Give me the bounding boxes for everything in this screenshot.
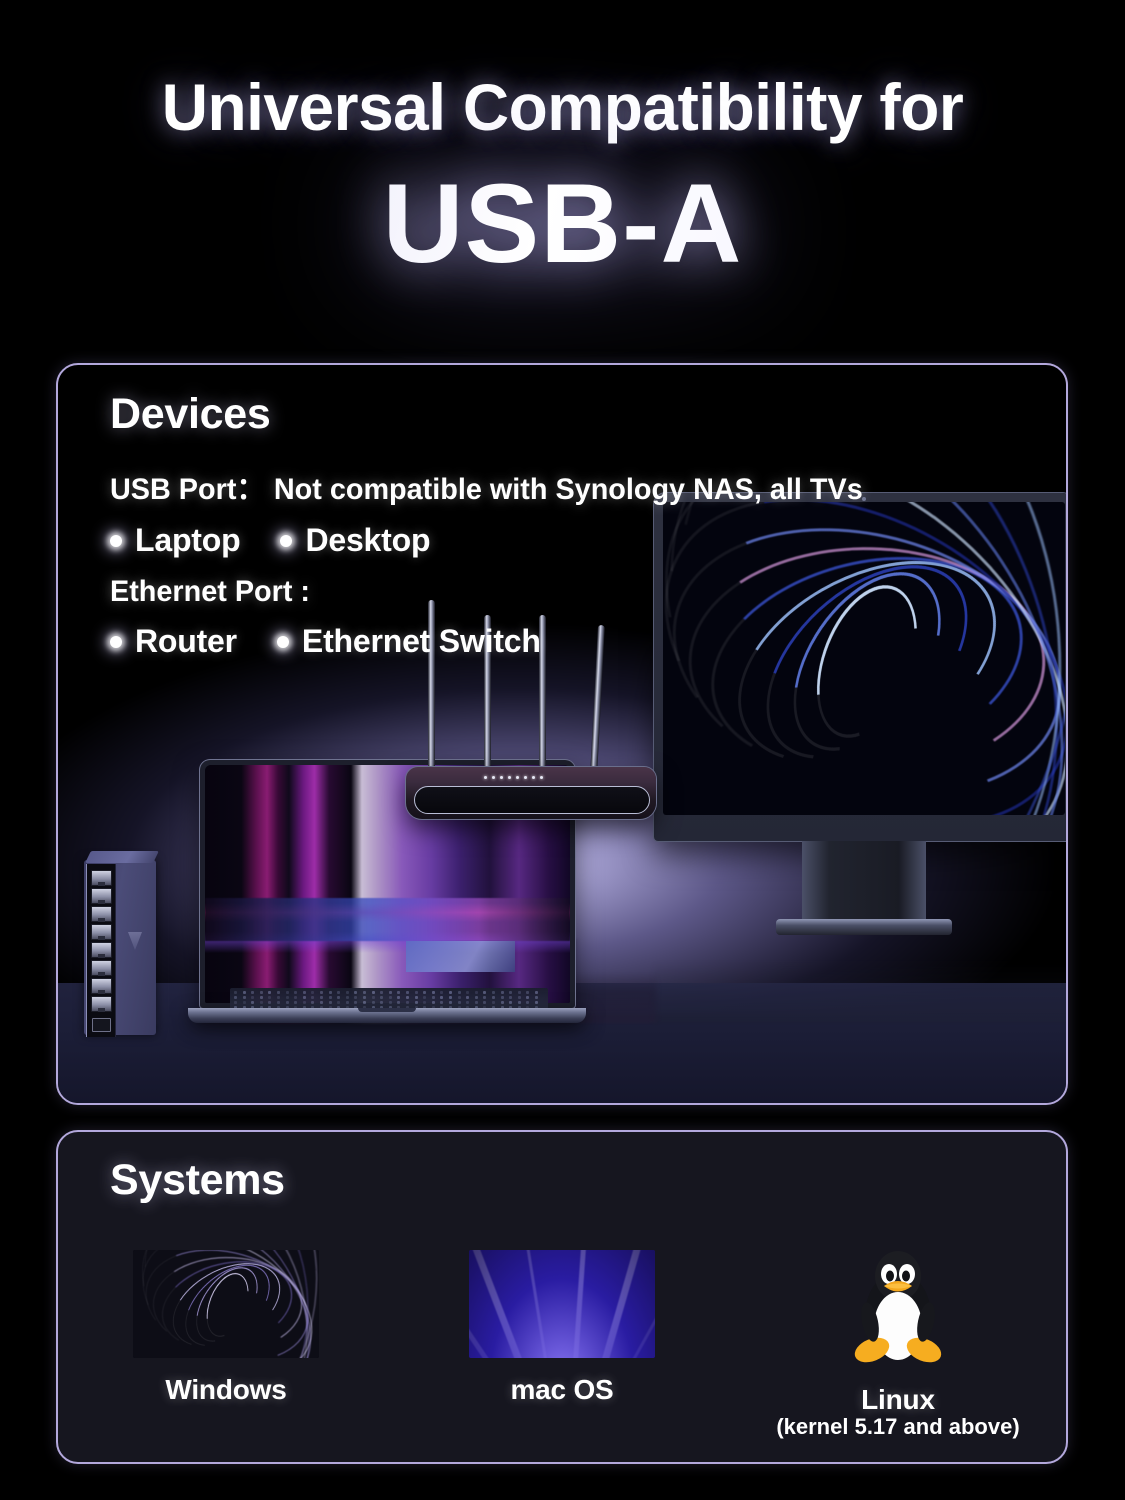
router-body bbox=[406, 767, 656, 819]
ethernet-port-heading: Ethernet Port : bbox=[110, 575, 524, 609]
os-sublabel: (kernel 5.17 and above) bbox=[776, 1415, 1019, 1440]
router-front-panel bbox=[414, 786, 650, 814]
devices-card-title: Devices bbox=[110, 390, 270, 439]
os-item-linux: Linux (kernel 5.17 and above) bbox=[730, 1250, 1066, 1440]
os-label: mac OS bbox=[510, 1375, 613, 1405]
bullet-dot-icon bbox=[280, 535, 292, 547]
list-item: Laptop bbox=[110, 522, 240, 559]
laptop-base bbox=[188, 1008, 586, 1023]
usb-device-list: Laptop Desktop bbox=[110, 522, 894, 559]
list-item: Router bbox=[110, 623, 237, 660]
rj45-port-icon bbox=[91, 996, 112, 1012]
list-item-label: Laptop bbox=[135, 522, 240, 559]
usb-port-note: Not compatible with Synology NAS, all TV… bbox=[274, 473, 863, 506]
laptop-wallpaper-accent bbox=[406, 941, 516, 972]
os-label: Linux bbox=[861, 1385, 935, 1415]
list-item-label: Desktop bbox=[305, 522, 430, 559]
headline-line-1: Universal Compatibility for bbox=[17, 74, 1108, 140]
os-label: Windows bbox=[165, 1375, 286, 1405]
rj45-port-icon bbox=[91, 906, 112, 922]
usb-port-label: USB Port： bbox=[110, 473, 265, 506]
rj45-port-icon bbox=[91, 870, 112, 886]
os-list: Windows mac OS bbox=[58, 1250, 1066, 1440]
windows-wallpaper-thumbnail bbox=[133, 1250, 319, 1358]
bullet-dot-icon bbox=[110, 535, 122, 547]
list-item-label: Ethernet Switch bbox=[302, 623, 541, 660]
monitor-stand bbox=[776, 841, 952, 935]
usb-port-section: USB Port：Not compatible with Synology NA… bbox=[110, 464, 894, 559]
linux-tux-penguin-icon bbox=[843, 1250, 953, 1368]
ethernet-switch-illustration bbox=[84, 860, 156, 1035]
monitor-reflection bbox=[654, 960, 1068, 1023]
ethernet-device-list: Router Ethernet Switch bbox=[110, 623, 541, 660]
rj45-port-icon bbox=[91, 888, 112, 904]
macos-rays-art bbox=[469, 1250, 655, 1358]
rj45-port-icon bbox=[91, 960, 112, 976]
rj45-port-icon bbox=[91, 942, 112, 958]
list-item: Ethernet Switch bbox=[277, 623, 541, 660]
windows-bloom-art bbox=[133, 1250, 319, 1358]
systems-card: Systems Windows mac OS bbox=[56, 1130, 1068, 1464]
rj45-port-icon bbox=[91, 978, 112, 994]
switch-top-face bbox=[85, 851, 159, 863]
usb-port-heading: USB Port：Not compatible with Synology NA… bbox=[110, 464, 863, 508]
headline-line-2: USB-A bbox=[0, 168, 1125, 280]
stand-neck bbox=[802, 841, 926, 919]
bullet-dot-icon bbox=[277, 636, 289, 648]
stand-foot bbox=[776, 919, 952, 935]
laptop-notch bbox=[358, 1008, 416, 1012]
devices-card: Devices USB Port：Not compatible with Syn… bbox=[56, 363, 1068, 1105]
router-led-indicators bbox=[484, 776, 543, 779]
macos-color-wash bbox=[469, 1250, 655, 1358]
list-item: Desktop bbox=[280, 522, 430, 559]
systems-card-title: Systems bbox=[110, 1156, 285, 1205]
switch-port-panel bbox=[86, 864, 116, 1037]
bullet-dot-icon bbox=[110, 636, 122, 648]
macos-wallpaper-thumbnail bbox=[469, 1250, 655, 1358]
ethernet-port-section: Ethernet Port : Router Ethernet Switch bbox=[110, 575, 541, 660]
laptop-keyboard bbox=[230, 988, 548, 1010]
bloom-ribbon bbox=[133, 1250, 319, 1358]
os-item-windows: Windows bbox=[58, 1250, 394, 1440]
os-item-macos: mac OS bbox=[394, 1250, 730, 1440]
power-port-icon bbox=[92, 1018, 111, 1032]
headline: Universal Compatibility for USB-A bbox=[0, 74, 1125, 280]
rj45-port-icon bbox=[91, 924, 112, 940]
list-item-label: Router bbox=[135, 623, 237, 660]
